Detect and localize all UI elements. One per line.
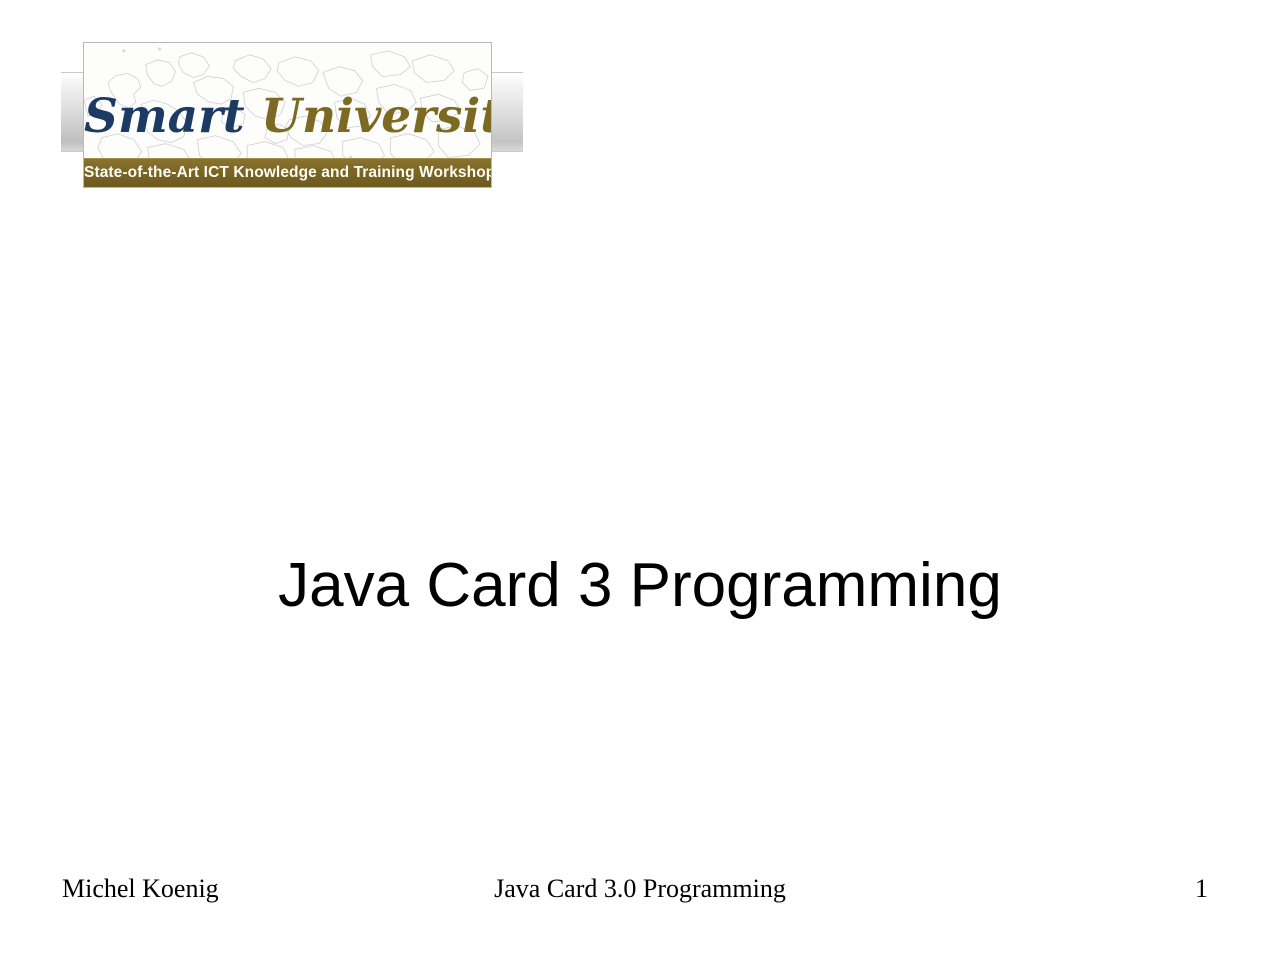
logo-frame: Smart University State-of-the-Art ICT Kn… bbox=[83, 42, 492, 188]
footer-page-number: 1 bbox=[1195, 872, 1208, 906]
logo-wordmark: Smart University bbox=[84, 87, 491, 147]
logo-word-university: University bbox=[261, 89, 492, 144]
slide-footer: Michel Koenig Java Card 3.0 Programming … bbox=[0, 872, 1280, 906]
footer-subject: Java Card 3.0 Programming bbox=[0, 872, 1280, 906]
smart-university-logo: Smart University State-of-the-Art ICT Kn… bbox=[61, 42, 531, 192]
logo-word-smart: Smart bbox=[84, 89, 245, 144]
logo-left-gradient-band bbox=[61, 72, 84, 152]
slide-canvas: Smart University State-of-the-Art ICT Kn… bbox=[0, 0, 1280, 960]
logo-tagline: State-of-the-Art ICT Knowledge and Train… bbox=[84, 158, 491, 187]
page-title: Java Card 3 Programming bbox=[0, 546, 1280, 626]
logo-right-gradient-band bbox=[490, 72, 523, 152]
